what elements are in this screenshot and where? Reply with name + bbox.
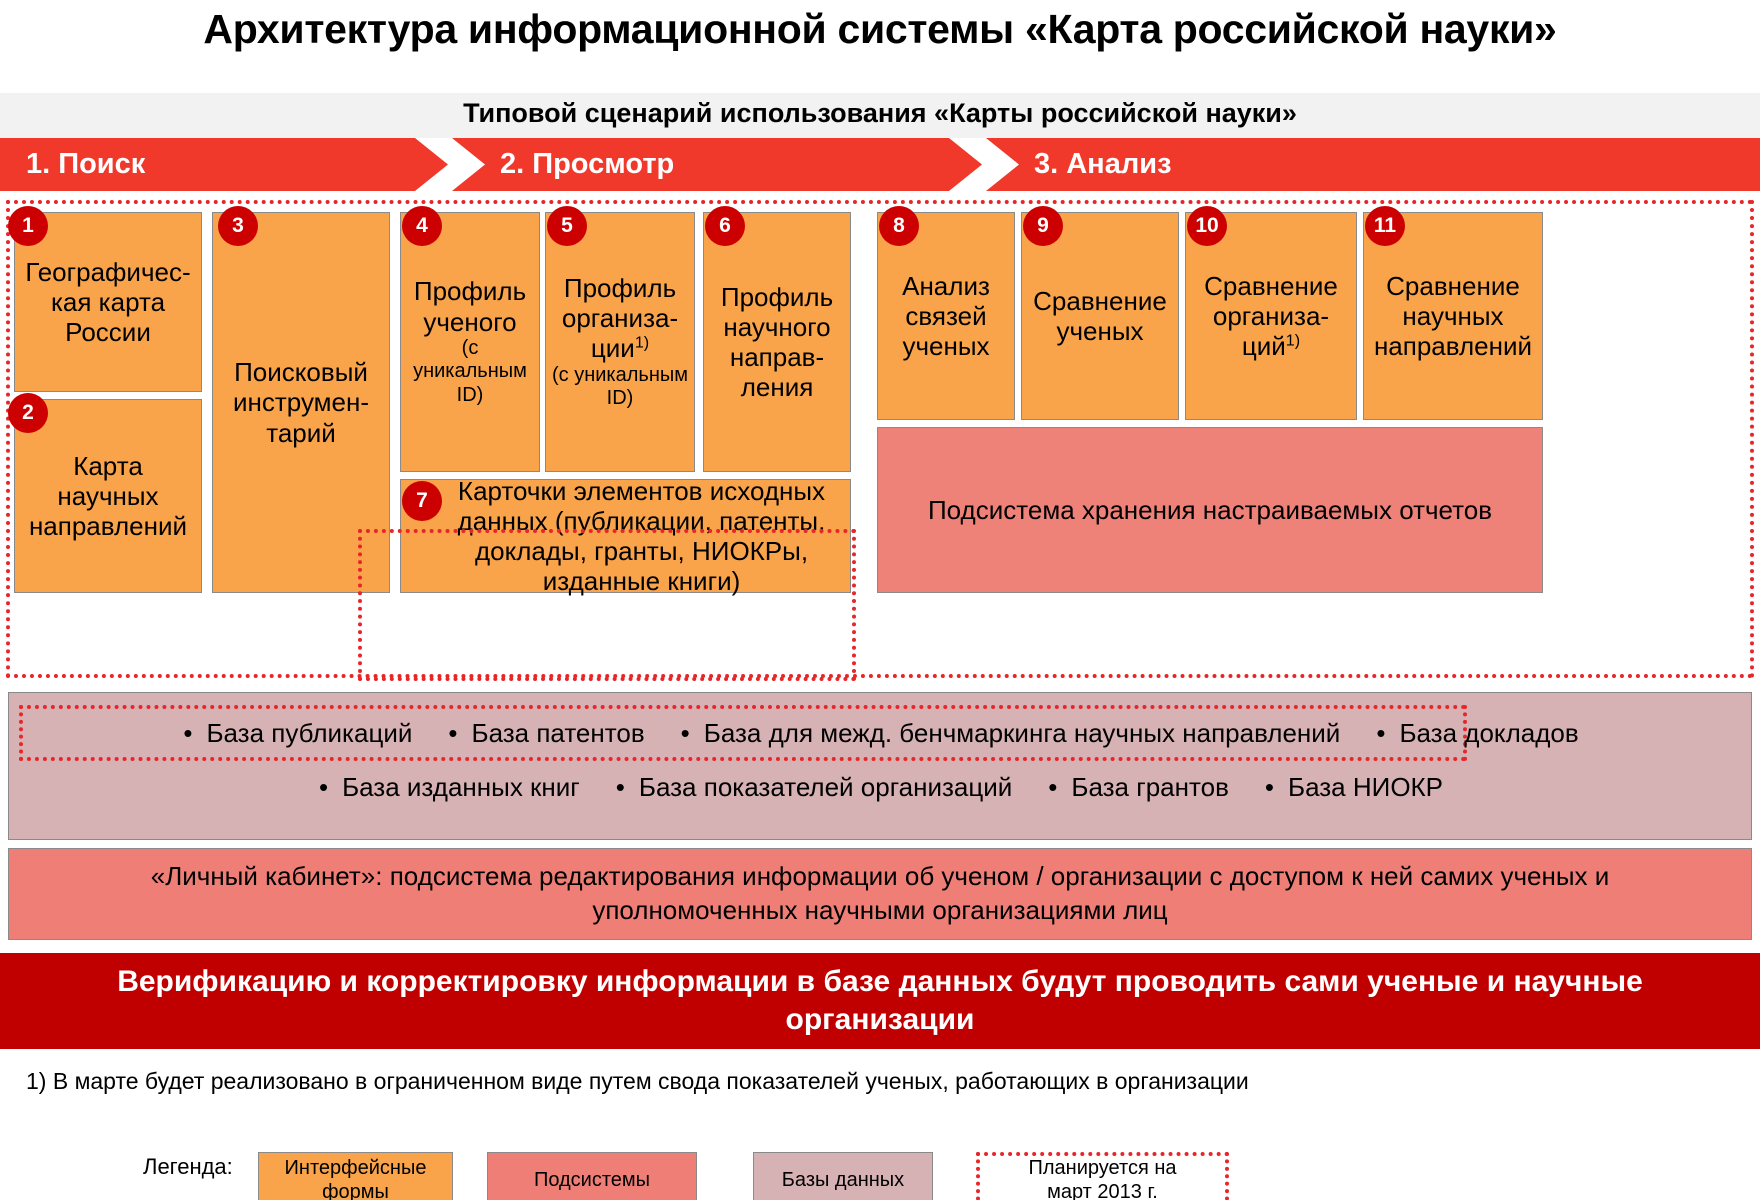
verification-banner-text: Верификацию и корректировку информации в…: [40, 963, 1720, 1040]
databases-row-1: База публикаций База патентов База для м…: [9, 709, 1753, 757]
form-card-scientist-profile[interactable]: Профиль ученого (с уникальным ID): [400, 212, 540, 472]
personal-cabinet-subsystem[interactable]: «Личный кабинет»: подсистема редактирова…: [8, 848, 1752, 940]
database-item-publications[interactable]: База публикаций: [183, 718, 412, 749]
form-card-research-field-profile-label: Профиль научного направ- ления: [715, 282, 839, 403]
databases-block: База публикаций База патентов База для м…: [8, 692, 1752, 840]
form-card-compare-organizations-label: Сравнение организа- ций1): [1198, 271, 1344, 361]
form-card-compare-scientists-label: Сравнение ученых: [1027, 286, 1173, 346]
form-card-geographic-map-label: Географичес- кая карта России: [19, 257, 196, 347]
database-item-org-indicators[interactable]: База показателей организаций: [616, 772, 1013, 803]
form-card-research-field-map-label: Карта научных направлений: [23, 451, 193, 541]
legend-swatch-interface-forms-label: Интерфейсные формы: [285, 1156, 427, 1200]
form-card-scientist-links-analysis-label: Анализ связей ученых: [896, 271, 996, 361]
badge-11: 11: [1365, 206, 1405, 246]
legend-swatch-interface-forms: Интерфейсные формы: [258, 1152, 453, 1200]
badge-1: 1: [8, 206, 48, 246]
legend-swatch-databases: Базы данных: [753, 1152, 933, 1200]
report-storage-subsystem-label: Подсистема хранения настраиваемых отчето…: [922, 495, 1498, 525]
databases-row-2: База изданных книг База показателей орга…: [9, 763, 1753, 811]
badge-9: 9: [1023, 206, 1063, 246]
database-item-reports[interactable]: База докладов: [1376, 718, 1578, 749]
report-storage-subsystem[interactable]: Подсистема хранения настраиваемых отчето…: [877, 427, 1543, 593]
database-item-rnd[interactable]: База НИОКР: [1265, 772, 1443, 803]
database-item-benchmarking[interactable]: База для межд. бенчмаркинга научных напр…: [681, 718, 1341, 749]
badge-10: 10: [1187, 206, 1227, 246]
step-chevron-search[interactable]: 1. Поиск: [0, 138, 448, 191]
form-card-research-field-profile[interactable]: Профиль научного направ- ления: [703, 212, 851, 472]
database-item-grants[interactable]: База грантов: [1048, 772, 1229, 803]
database-item-patents[interactable]: База патентов: [448, 718, 644, 749]
badge-3: 3: [218, 206, 258, 246]
legend-swatch-planned-march-2013: Планируется на март 2013 г.: [976, 1152, 1229, 1200]
legend-label: Легенда:: [143, 1154, 233, 1180]
legend-swatch-subsystems: Подсистемы: [487, 1152, 697, 1200]
badge-5: 5: [547, 206, 587, 246]
form-card-research-field-map[interactable]: Карта научных направлений: [14, 399, 202, 593]
legend-swatch-databases-label: Базы данных: [782, 1168, 904, 1192]
badge-6: 6: [705, 206, 745, 246]
legend-swatch-planned-march-2013-label: Планируется на март 2013 г.: [1028, 1156, 1176, 1200]
slide-root: Архитектура информационной системы «Карт…: [0, 0, 1760, 1200]
step-chevron-analysis[interactable]: 3. Анализ: [986, 138, 1760, 191]
personal-cabinet-label: «Личный кабинет»: подсистема редактирова…: [69, 860, 1691, 928]
step-label-analysis: 3. Анализ: [986, 148, 1172, 181]
step-label-view: 2. Просмотр: [452, 148, 674, 181]
scenario-steps: 1. Поиск 2. Просмотр 3. Анализ: [0, 138, 1760, 191]
badge-4: 4: [402, 206, 442, 246]
badge-8: 8: [879, 206, 919, 246]
form-card-organization-profile[interactable]: Профиль организа- ции1) (с уникальным ID…: [545, 212, 695, 472]
form-card-organization-profile-sub: (с уникальным ID): [552, 364, 688, 411]
verification-banner: Верификацию и корректировку информации в…: [0, 953, 1760, 1049]
database-item-published-books[interactable]: База изданных книг: [319, 772, 580, 803]
step-label-search: 1. Поиск: [0, 148, 145, 181]
form-card-scientist-profile-sub: (с уникальным ID): [407, 337, 533, 408]
interface-forms-stage: Географичес- кая карта России 1 Карта на…: [0, 196, 1760, 684]
source-data-records-dashed-outline: [358, 529, 856, 681]
badge-2: 2: [8, 393, 48, 433]
page-title: Архитектура информационной системы «Карт…: [0, 6, 1760, 53]
form-card-organization-profile-label: Профиль организа- ции1) (с уникальным ID…: [546, 273, 694, 411]
step-chevron-view[interactable]: 2. Просмотр: [452, 138, 982, 191]
form-card-compare-research-fields-label: Сравнение научных направлений: [1368, 271, 1538, 361]
scenario-title: Типовой сценарий использования «Карты ро…: [0, 98, 1760, 129]
legend-swatch-subsystems-label: Подсистемы: [534, 1168, 650, 1192]
form-card-search-tools-label: Поисковый инструмен- тарий: [227, 357, 375, 447]
footnote: 1) В марте будет реализовано в ограничен…: [26, 1068, 1726, 1095]
form-card-scientist-profile-label: Профиль ученого (с уникальным ID): [401, 276, 539, 407]
badge-7: 7: [402, 481, 442, 521]
